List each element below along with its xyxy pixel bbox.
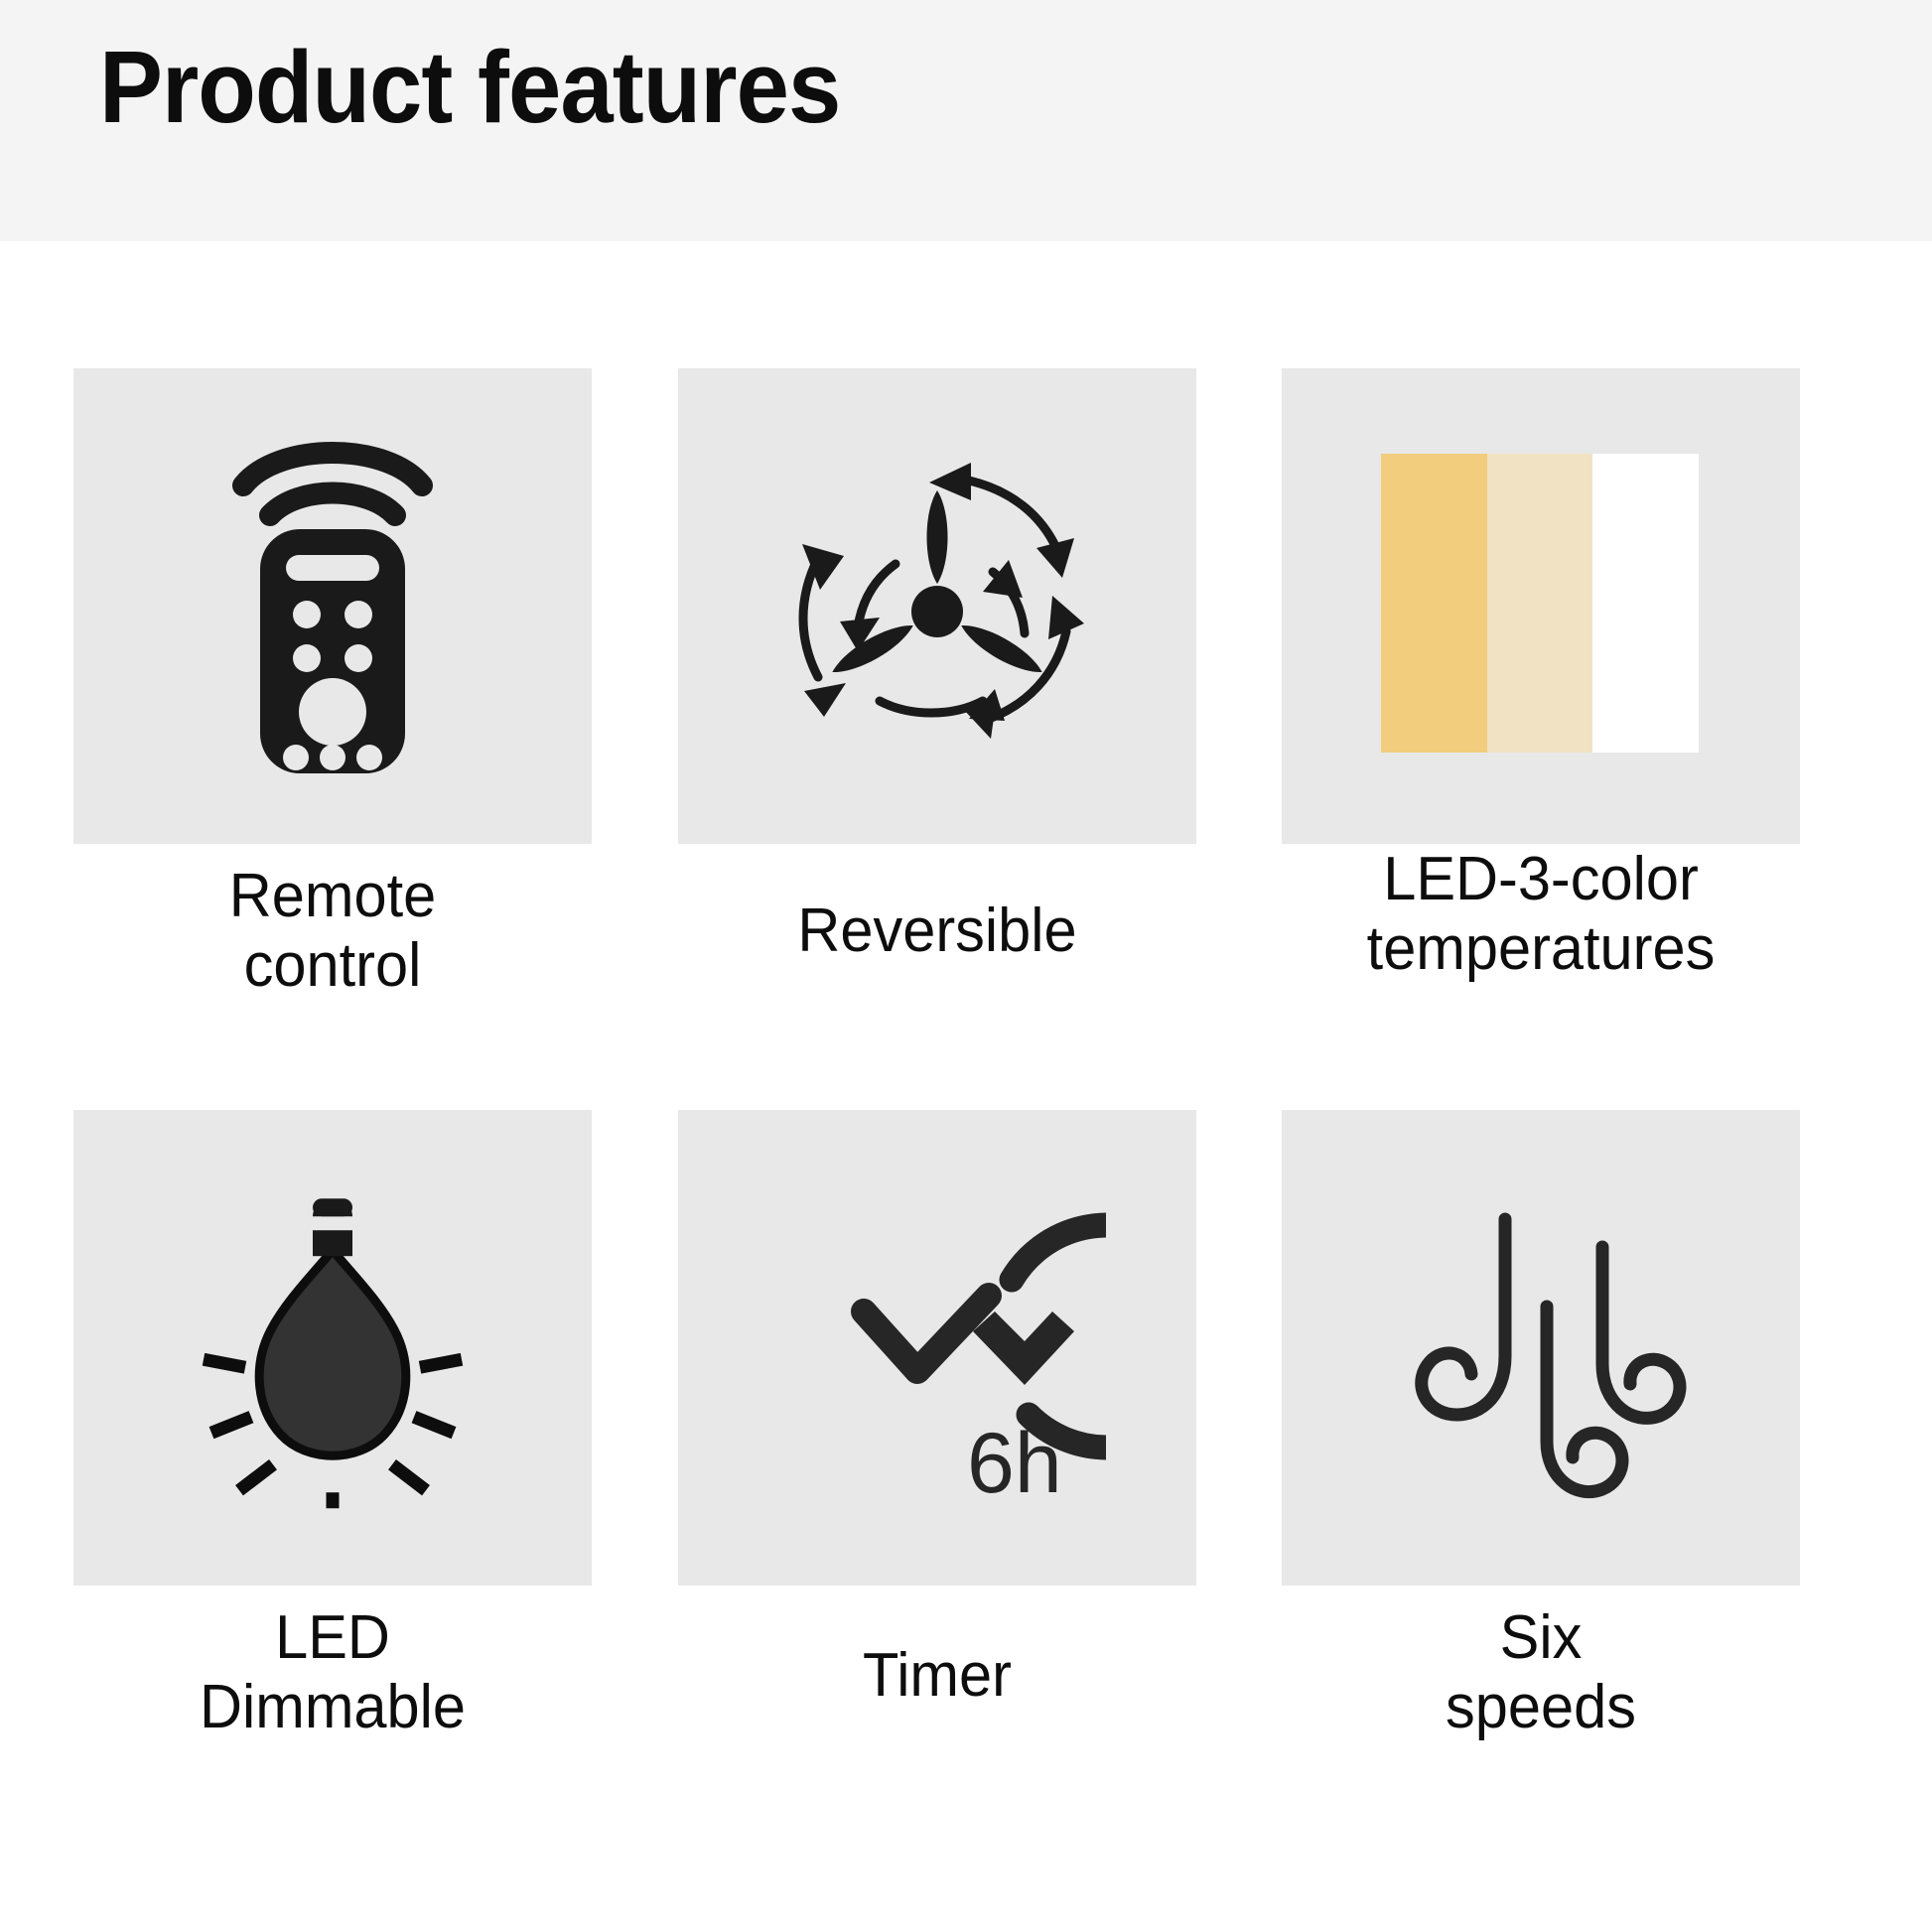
- page-title: Product features: [99, 34, 840, 141]
- feature-caption: Reversible: [688, 897, 1185, 966]
- product-features-infographic: Product features: [0, 0, 1932, 1932]
- timer-clock-icon: 6h: [768, 1184, 1106, 1512]
- light-bulb-dimmable-icon: [184, 1173, 482, 1510]
- feature-caption: Six speeds: [1292, 1603, 1789, 1742]
- timer-badge-text: 6h: [967, 1416, 1062, 1511]
- feature-grid: Remote control: [0, 241, 1932, 1932]
- feature-caption: Timer: [688, 1641, 1185, 1711]
- feature-icon-tile: [73, 368, 592, 844]
- feature-icon-tile: [1282, 1110, 1800, 1586]
- color-temperature-swatch-icon: [1381, 454, 1699, 753]
- swatch-natural-white: [1487, 454, 1593, 753]
- reversible-fan-icon: [759, 453, 1116, 760]
- feature-caption: LED-3-color temperatures: [1274, 845, 1808, 984]
- feature-icon-tile: [1282, 368, 1800, 844]
- feature-icon-tile: 6h: [678, 1110, 1196, 1586]
- remote-control-icon: [218, 438, 447, 775]
- feature-caption: LED Dimmable: [83, 1603, 581, 1742]
- feature-caption: Remote control: [83, 862, 581, 1001]
- feature-icon-tile: [678, 368, 1196, 844]
- wind-speed-icon: [1382, 1189, 1700, 1507]
- swatch-warm-white: [1381, 454, 1487, 753]
- feature-icon-tile: [73, 1110, 592, 1586]
- swatch-cool-white: [1592, 454, 1699, 753]
